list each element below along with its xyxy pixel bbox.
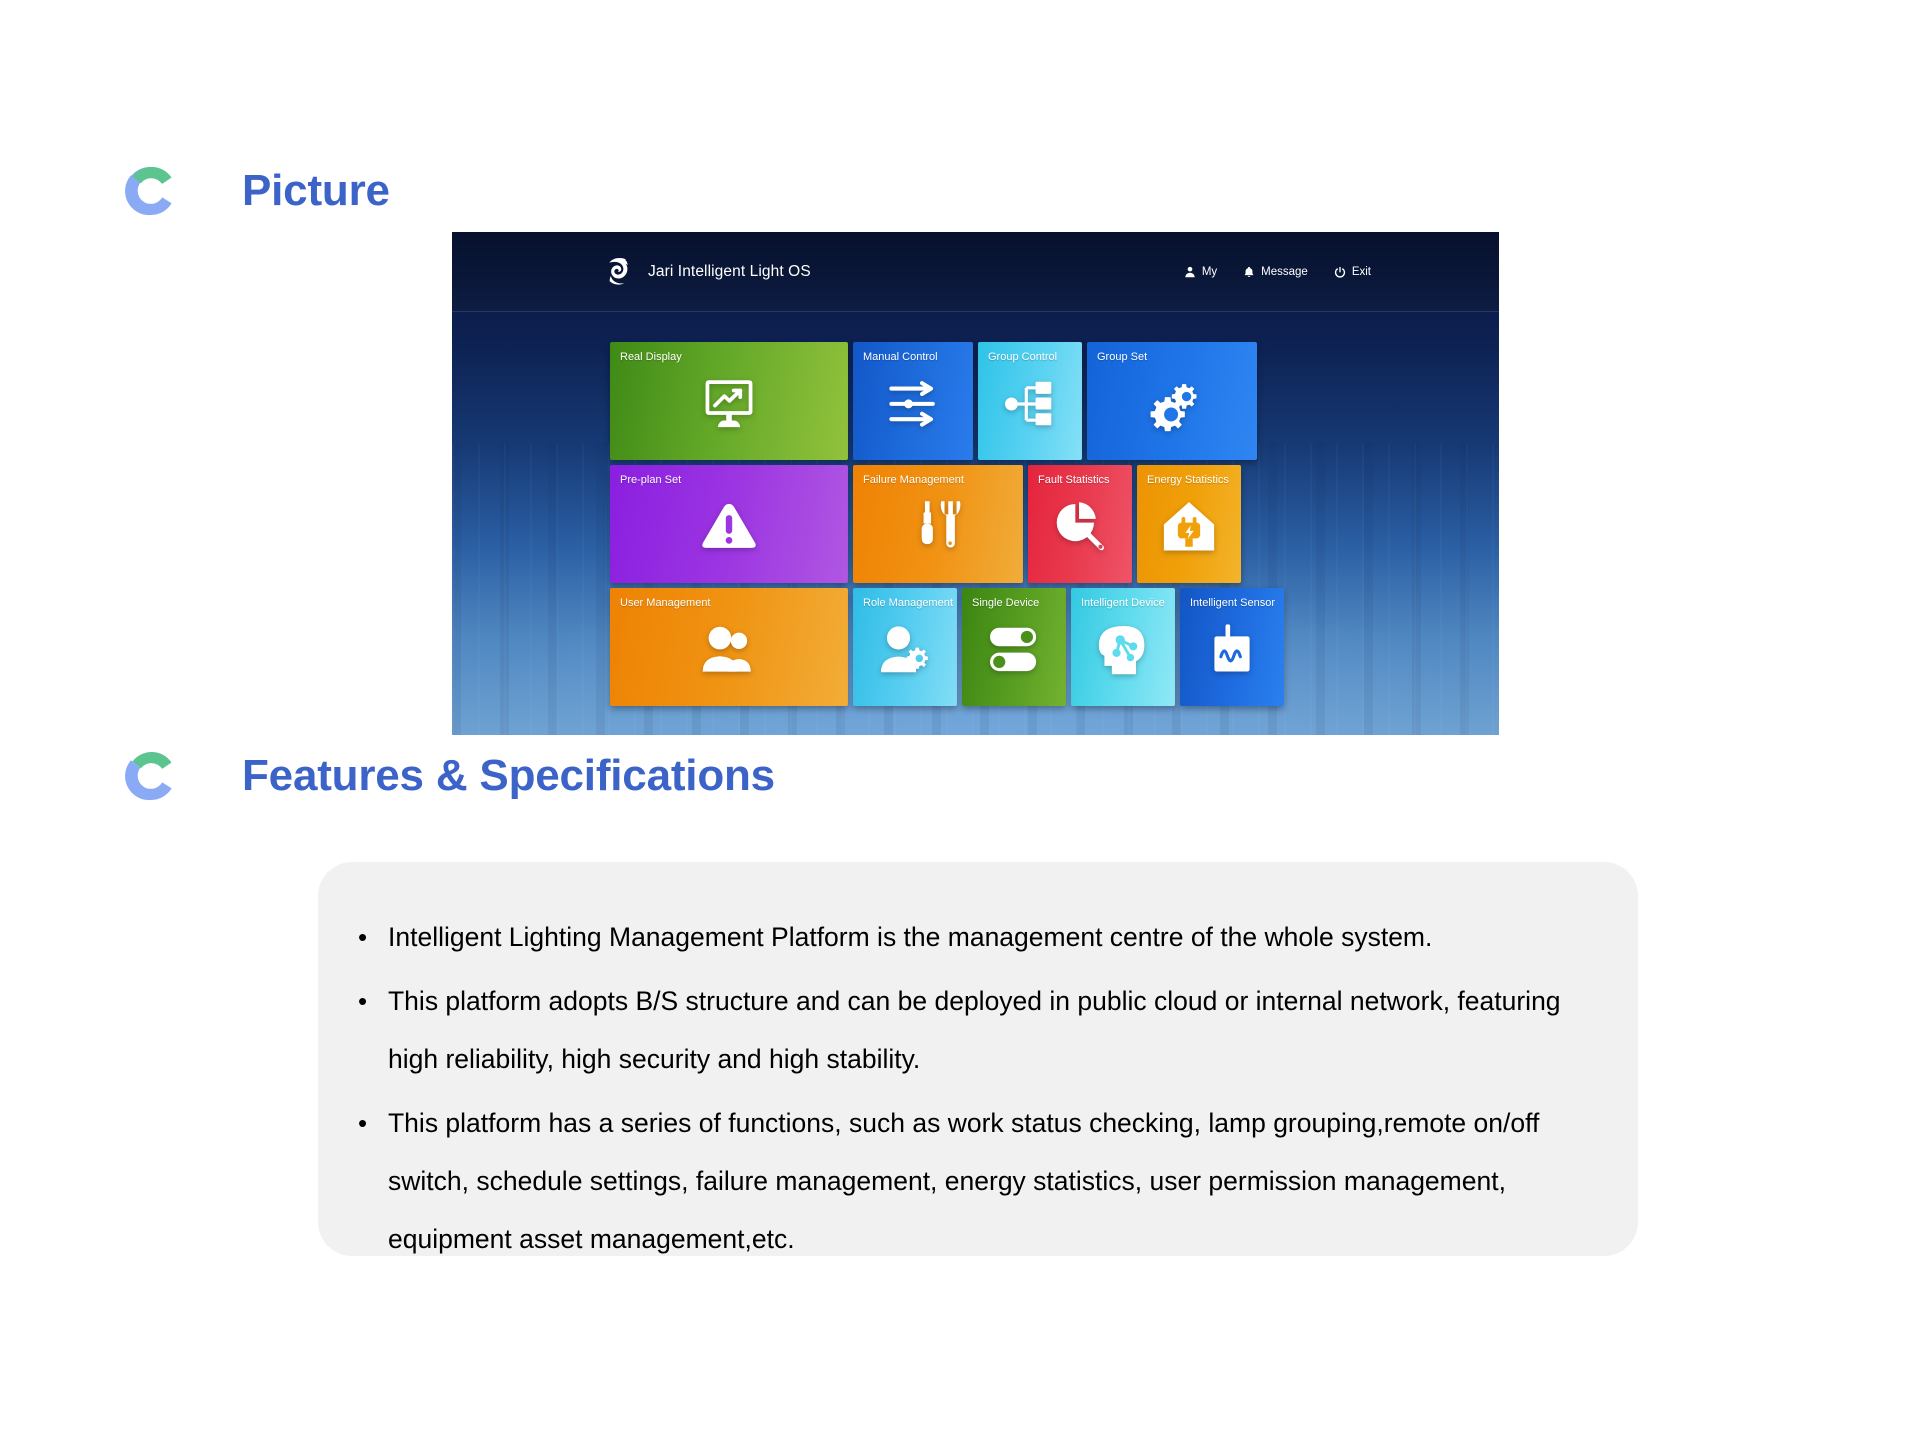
nav-item-exit-label: Exit: [1352, 266, 1371, 278]
page-title: Picture: [242, 166, 390, 216]
tile-role-management[interactable]: Role Management: [853, 588, 957, 706]
tile-user-management[interactable]: User Management: [610, 588, 848, 706]
monitor-chart-icon: [610, 375, 848, 435]
tile-label: User Management: [620, 597, 711, 609]
warning-triangle-icon: [610, 500, 848, 554]
power-icon: [1334, 266, 1346, 278]
dashboard-tile-grid: Real Display Manual Control: [610, 342, 1350, 711]
app-header-nav: My Message Exit: [1184, 266, 1371, 278]
app-header-bar: Jari Intelligent Light OS My Message: [452, 232, 1499, 312]
nav-item-exit[interactable]: Exit: [1334, 266, 1371, 278]
tile-row: Real Display Manual Control: [610, 342, 1350, 460]
sensor-wave-icon: [1180, 623, 1284, 677]
bullet-marker: •: [346, 908, 388, 966]
bullet-marker: •: [346, 972, 388, 1030]
tile-label: Real Display: [620, 351, 682, 363]
toggles-icon: [962, 626, 1066, 674]
tile-group-control[interactable]: Group Control: [978, 342, 1082, 460]
app-brand: Jari Intelligent Light OS: [600, 255, 811, 289]
c-ring-logo-icon: [120, 160, 182, 222]
users-icon: [610, 626, 848, 674]
nav-item-message-label: Message: [1261, 266, 1308, 278]
bullet-marker: •: [346, 1094, 388, 1152]
tile-intelligent-sensor[interactable]: Intelligent Sensor: [1180, 588, 1284, 706]
tile-label: Group Set: [1097, 351, 1147, 363]
tile-intelligent-device[interactable]: Intelligent Device: [1071, 588, 1175, 706]
house-plug-icon: [1137, 500, 1241, 554]
tile-label: Role Management: [863, 597, 953, 609]
tile-label: Single Device: [972, 597, 1039, 609]
head-network-icon: [1071, 624, 1175, 676]
dashboard-screenshot: Jari Intelligent Light OS My Message: [452, 232, 1499, 735]
user-icon: [1184, 266, 1196, 278]
features-bullet-list: • Intelligent Lighting Management Platfo…: [346, 908, 1598, 1274]
bullet-text: This platform has a series of functions,…: [388, 1094, 1568, 1268]
bell-icon: [1243, 266, 1255, 278]
tile-fault-statistics[interactable]: Fault Statistics: [1028, 465, 1132, 583]
picture-section-heading: Picture: [120, 160, 390, 222]
bullet-text: Intelligent Lighting Management Platform…: [388, 908, 1568, 966]
tools-icon: [853, 499, 1023, 555]
bullet-text: This platform adopts B/S structure and c…: [388, 972, 1568, 1088]
tile-single-device[interactable]: Single Device: [962, 588, 1066, 706]
c-ring-logo-icon: [120, 745, 182, 807]
tile-group-set[interactable]: Group Set: [1087, 342, 1257, 460]
tile-label: Group Control: [988, 351, 1057, 363]
tile-energy-statistics[interactable]: Energy Statistics: [1137, 465, 1241, 583]
list-item: • This platform has a series of function…: [346, 1094, 1598, 1268]
nav-item-my[interactable]: My: [1184, 266, 1217, 278]
tile-label: Fault Statistics: [1038, 474, 1110, 486]
tile-row: User Management Role Management: [610, 588, 1350, 706]
tile-label: Energy Statistics: [1147, 474, 1229, 486]
sliders-icon: [853, 380, 973, 428]
jari-swirl-logo-icon: [600, 255, 634, 289]
features-card: • Intelligent Lighting Management Platfo…: [318, 862, 1638, 1256]
tile-real-display[interactable]: Real Display: [610, 342, 848, 460]
tile-label: Pre-plan Set: [620, 474, 681, 486]
list-item: • This platform adopts B/S structure and…: [346, 972, 1598, 1088]
tile-failure-management[interactable]: Failure Management: [853, 465, 1023, 583]
tile-label: Manual Control: [863, 351, 938, 363]
tile-label: Intelligent Device: [1081, 597, 1165, 609]
app-brand-text: Jari Intelligent Light OS: [648, 263, 811, 281]
gears-icon: [1087, 377, 1257, 431]
nav-item-message[interactable]: Message: [1243, 266, 1308, 278]
tile-pre-plan-set[interactable]: Pre-plan Set: [610, 465, 848, 583]
nav-item-my-label: My: [1202, 266, 1217, 278]
slide-page: Picture Jari Intelligent Light OS: [0, 0, 1920, 1440]
tile-label: Failure Management: [863, 474, 964, 486]
tile-label: Intelligent Sensor: [1190, 597, 1275, 609]
tile-row: Pre-plan Set Failure Management: [610, 465, 1350, 583]
section-title: Features & Specifications: [242, 751, 775, 801]
features-section-heading: Features & Specifications: [120, 745, 775, 807]
tile-manual-control[interactable]: Manual Control: [853, 342, 973, 460]
pie-search-icon: [1028, 500, 1132, 554]
list-item: • Intelligent Lighting Management Platfo…: [346, 908, 1598, 966]
user-gear-icon: [853, 625, 957, 675]
hierarchy-icon: [978, 379, 1082, 429]
